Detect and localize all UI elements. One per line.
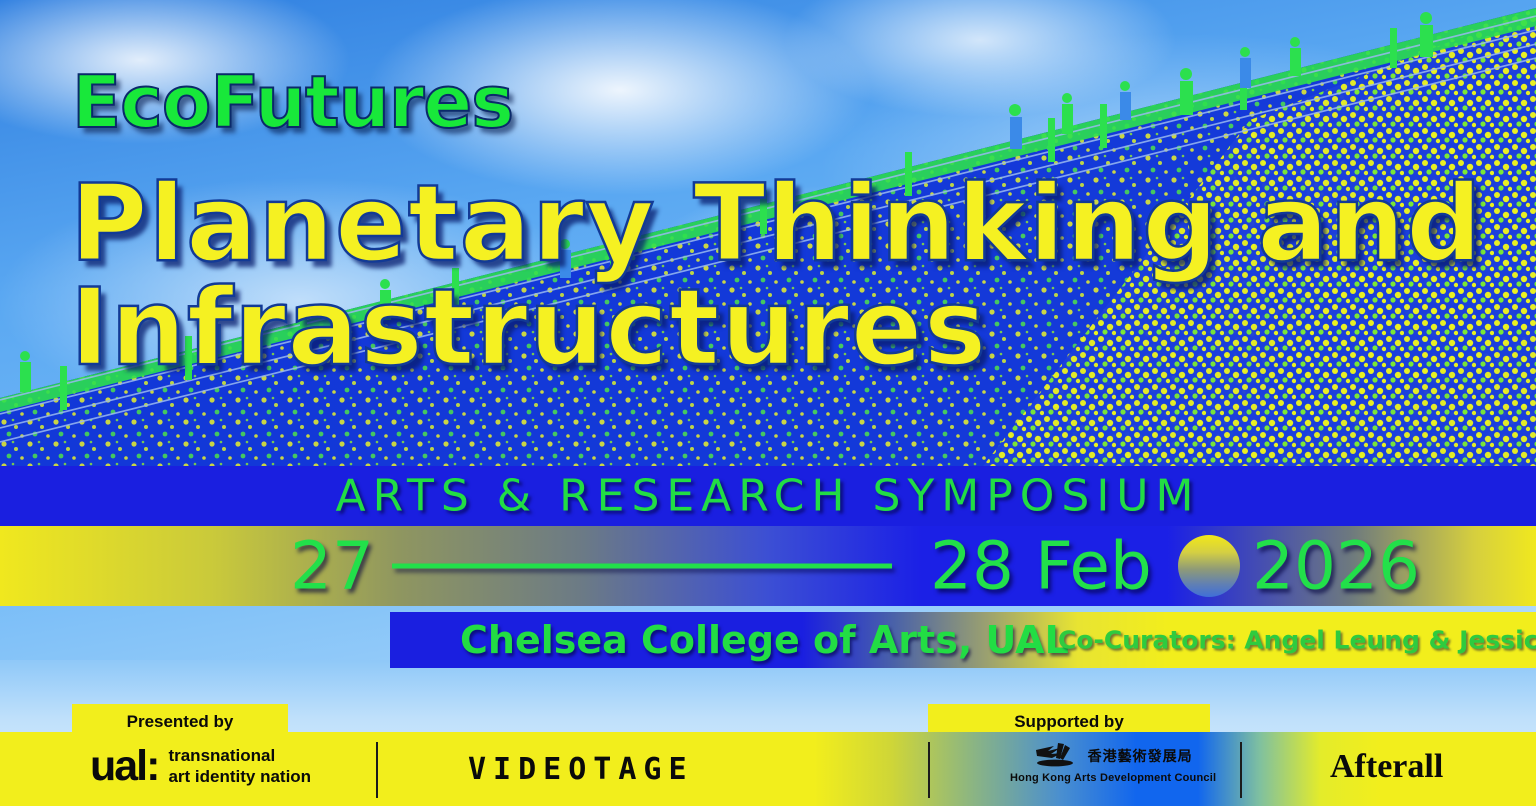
- hkadc-brush-icon: [1034, 742, 1080, 770]
- footer-divider-1: [376, 742, 378, 798]
- supported-by-label: Supported by: [928, 712, 1210, 732]
- eyebrow-title: EcoFutures: [72, 60, 513, 144]
- hkadc-logo: 香港藝術發展局 Hong Kong Arts Development Counc…: [1010, 742, 1216, 784]
- videotage-logo: VIDEOTAGE: [468, 752, 694, 787]
- date-year: 2026: [1252, 528, 1420, 605]
- title-line-1: Planetary Thinking and: [70, 172, 1520, 276]
- hkadc-name-cn: 香港藝術發展局: [1088, 746, 1193, 766]
- venue-curators-band: Chelsea College of Arts, UAL Co-Curators…: [390, 612, 1536, 668]
- date-end-day-month: 28 Feb: [930, 528, 1152, 605]
- title-line-2: Infrastructures: [70, 276, 1520, 380]
- date-rule-divider: [392, 564, 892, 569]
- ual-tagline-line-2: art identity nation: [168, 767, 311, 787]
- hkadc-name-en: Hong Kong Arts Development Council: [1010, 772, 1216, 784]
- symposium-band: ARTS & RESEARCH SYMPOSIUM: [0, 466, 1536, 526]
- page-title: Planetary Thinking and Infrastructures: [70, 172, 1520, 380]
- footer-divider-3: [1240, 742, 1242, 798]
- footer-divider-2: [928, 742, 930, 798]
- symposium-label: ARTS & RESEARCH SYMPOSIUM: [0, 471, 1536, 522]
- afterall-logo: Afterall: [1330, 748, 1443, 786]
- date-start-day: 27: [290, 528, 374, 605]
- ual-tagline: transnational art identity nation: [168, 746, 311, 786]
- curators-label: Co-Curators: Angel Leung & Jessica Wan: [1058, 626, 1536, 655]
- ual-logo: ual: transnational art identity nation: [90, 745, 311, 788]
- ual-tagline-line-1: transnational: [168, 746, 311, 766]
- presented-by-label: Presented by: [72, 712, 288, 732]
- date-dot-icon: [1178, 535, 1240, 597]
- ual-wordmark: ual:: [90, 745, 158, 788]
- poster-canvas: EcoFutures Planetary Thinking and Infras…: [0, 0, 1536, 806]
- date-band: 27 28 Feb 2026: [0, 526, 1536, 606]
- venue-label: Chelsea College of Arts, UAL: [460, 618, 1069, 662]
